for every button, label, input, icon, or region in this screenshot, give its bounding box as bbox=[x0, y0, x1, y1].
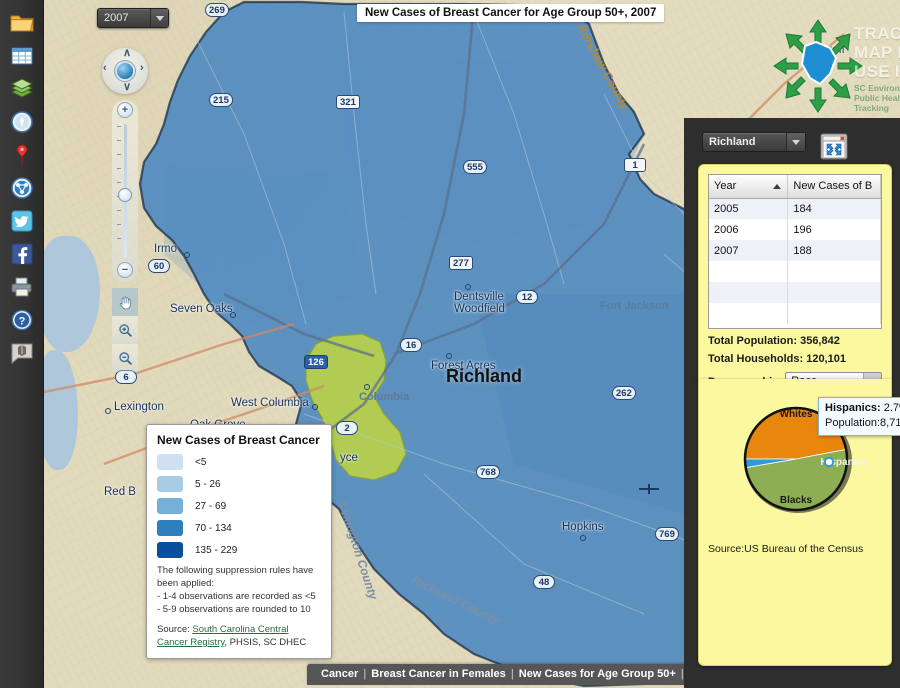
twitter-icon[interactable] bbox=[0, 204, 44, 237]
tooltip-percent: 2.7% bbox=[884, 402, 900, 414]
legend-source: Source: South Carolina Central Cancer Re… bbox=[157, 623, 321, 649]
expand-arrows-icon bbox=[820, 133, 848, 160]
logo-tagline: TRACK IT. MAP IT. USE IT. bbox=[854, 24, 900, 81]
logo-subtitle: SC Environmental Public Health Tracking bbox=[854, 83, 900, 113]
legend-title: New Cases of Breast Cancer bbox=[157, 433, 321, 447]
table-cell-year: 2007 bbox=[709, 240, 788, 261]
left-toolbar: ? bbox=[0, 0, 44, 688]
table-row[interactable]: 2006196 bbox=[709, 219, 881, 240]
legend-item: 27 - 69 bbox=[157, 498, 321, 514]
table-cell-empty bbox=[709, 282, 788, 303]
map-city-dot bbox=[364, 384, 370, 390]
highway-shield-16: 16 bbox=[400, 338, 422, 352]
breadcrumb-separator-1: | bbox=[361, 668, 368, 680]
share-icon[interactable] bbox=[0, 171, 44, 204]
legend-swatch bbox=[157, 520, 183, 536]
pan-hand-tool[interactable] bbox=[112, 288, 138, 316]
legend-suppression-note: The following suppression rules have bee… bbox=[157, 564, 321, 616]
legend-swatch bbox=[157, 454, 183, 470]
highway-shield-1: 1 bbox=[624, 158, 646, 172]
highway-shield-262: 262 bbox=[612, 386, 636, 400]
logo-line-2: MAP IT. bbox=[854, 43, 900, 62]
pie-hover-marker bbox=[825, 458, 833, 466]
table-cell-empty bbox=[788, 261, 881, 282]
county-dropdown[interactable]: Richland bbox=[702, 132, 806, 152]
highway-shield-769: 769 bbox=[655, 527, 679, 541]
map-city-dot bbox=[580, 535, 586, 541]
breadcrumb-separator-2: | bbox=[509, 668, 516, 680]
map-city-dot bbox=[312, 404, 318, 410]
zoom-in-tool[interactable] bbox=[112, 316, 138, 344]
table-cell-new-cases: 184 bbox=[788, 198, 881, 219]
legend-label: 135 - 229 bbox=[195, 545, 237, 556]
facebook-icon[interactable] bbox=[0, 237, 44, 270]
county-dropdown-value: Richland bbox=[703, 133, 786, 151]
map-city-dot bbox=[230, 312, 236, 318]
sort-ascending-icon bbox=[773, 184, 781, 189]
map-title: New Cases of Breast Cancer for Age Group… bbox=[357, 4, 664, 22]
highway-shield-269: 269 bbox=[205, 3, 229, 17]
demographic-chart-card: Whites Blacks Hispanics Hispanics: 2.7% … bbox=[698, 379, 892, 666]
table-header-year[interactable]: Year bbox=[709, 175, 788, 198]
tooltip-population-value: 8,713 bbox=[880, 417, 900, 429]
pan-left-icon[interactable]: ‹ bbox=[103, 62, 107, 74]
svg-text:?: ? bbox=[19, 315, 26, 327]
highway-shield-277: 277 bbox=[449, 256, 473, 270]
breadcrumb: Cancer | Breast Cancer in Females | New … bbox=[307, 664, 727, 685]
pan-control[interactable]: ∧ ∨ ‹ › bbox=[102, 48, 148, 94]
data-table[interactable]: Year New Cases of B 20051842006196200718… bbox=[708, 174, 882, 329]
highway-shield-60: 60 bbox=[148, 259, 170, 273]
total-households-value: 120,101 bbox=[806, 353, 846, 365]
pie-label-whites: Whites bbox=[780, 409, 813, 420]
table-body: 200518420061962007188 bbox=[709, 198, 881, 324]
pan-down-icon[interactable]: ∨ bbox=[123, 80, 131, 93]
pie-tooltip: Hispanics: 2.7% Population:8,713 bbox=[818, 397, 900, 436]
breadcrumb-item-1[interactable]: Cancer bbox=[321, 668, 358, 680]
info-panel-header: Richland bbox=[684, 118, 900, 166]
tooltip-name-label: Hispanics: bbox=[825, 402, 881, 414]
demographic-row: Demographic Race bbox=[708, 372, 882, 379]
zoom-out-tool[interactable] bbox=[112, 344, 138, 372]
table-header-year-label: Year bbox=[714, 180, 736, 192]
expand-panel-button[interactable] bbox=[820, 133, 848, 160]
legend-item: 5 - 26 bbox=[157, 476, 321, 492]
pan-up-icon[interactable]: ∧ bbox=[123, 46, 131, 59]
map-navigation-control: ∧ ∨ ‹ › + − bbox=[102, 48, 148, 94]
table-cell-new-cases: 188 bbox=[788, 240, 881, 261]
legend-source-suffix: , PHSIS, SC DHEC bbox=[224, 637, 306, 648]
folder-icon[interactable] bbox=[0, 6, 44, 39]
highway-shield-2: 2 bbox=[336, 421, 358, 435]
application-window: ? bbox=[0, 0, 900, 688]
table-cell-new-cases: 196 bbox=[788, 219, 881, 240]
legend-note-line-2: been applied: bbox=[157, 577, 321, 590]
year-dropdown[interactable]: 2007 bbox=[97, 8, 169, 28]
help-icon[interactable]: ? bbox=[0, 303, 44, 336]
table-cell-empty bbox=[709, 303, 788, 324]
legend-swatch bbox=[157, 498, 183, 514]
legend-label: 5 - 26 bbox=[195, 479, 221, 490]
race-pie-chart[interactable]: Whites Blacks Hispanics Hispanics: 2.7% … bbox=[708, 385, 882, 535]
legend-swatch bbox=[157, 476, 183, 492]
tooltip-population-line: Population:8,713 bbox=[825, 416, 900, 431]
table-cell-empty bbox=[709, 261, 788, 282]
layers-icon[interactable] bbox=[0, 72, 44, 105]
statistics-card: Year New Cases of B 20051842006196200718… bbox=[698, 164, 892, 379]
highway-shield-215: 215 bbox=[209, 93, 233, 107]
logo-subline-2: Public Health Tracking bbox=[854, 93, 900, 113]
pie-label-blacks: Blacks bbox=[780, 495, 813, 506]
zoom-slider-thumb[interactable] bbox=[118, 188, 132, 202]
map-city-dot bbox=[105, 408, 111, 414]
legend-label: <5 bbox=[195, 457, 206, 468]
chevron-down-icon bbox=[150, 9, 168, 27]
highway-shield-6: 6 bbox=[115, 370, 137, 384]
zoom-out-button[interactable]: − bbox=[117, 262, 133, 278]
legend-label: 27 - 69 bbox=[195, 501, 226, 512]
legend-note-line-4: - 5-9 observations are rounded to 10 bbox=[157, 603, 321, 616]
info-panel: Richland Year New Cases of B bbox=[684, 118, 900, 688]
pdf-icon[interactable] bbox=[0, 336, 44, 369]
legend-item: 70 - 134 bbox=[157, 520, 321, 536]
table-row[interactable]: 2005184 bbox=[709, 198, 881, 219]
globe-icon[interactable] bbox=[115, 61, 135, 81]
total-households-row: Total Households: 120,101 bbox=[708, 353, 882, 365]
table-cell-empty bbox=[788, 303, 881, 324]
pie-chart-source: Source:US Bureau of the Census bbox=[708, 543, 882, 555]
map-tool-stack bbox=[112, 288, 138, 372]
pan-right-icon[interactable]: › bbox=[140, 62, 144, 74]
highway-shield-555: 555 bbox=[463, 160, 487, 174]
table-header-new-cases[interactable]: New Cases of B bbox=[788, 175, 881, 198]
logo-line-3: USE IT. bbox=[854, 62, 900, 81]
total-population-row: Total Population: 356,842 bbox=[708, 335, 882, 347]
legend-swatch bbox=[157, 542, 183, 558]
map-city-dot bbox=[446, 353, 452, 359]
brand-logo: TRACK IT. MAP IT. USE IT. SC Environment… bbox=[772, 18, 900, 113]
table-cell-year: 2005 bbox=[709, 198, 788, 219]
breadcrumb-item-2[interactable]: Breast Cancer in Females bbox=[371, 668, 506, 680]
map-city-dot bbox=[465, 284, 471, 290]
printer-icon[interactable] bbox=[0, 270, 44, 303]
total-households-label: Total Households: bbox=[708, 353, 803, 365]
legend-item-list: <55 - 2627 - 6970 - 134135 - 229 bbox=[157, 454, 321, 558]
table-row-empty bbox=[709, 261, 881, 282]
legend-note-line-1: The following suppression rules have bbox=[157, 564, 321, 577]
legend-item: <5 bbox=[157, 454, 321, 470]
legend-item: 135 - 229 bbox=[157, 542, 321, 558]
map-city-dot bbox=[184, 252, 190, 258]
legend-note-line-3: - 1-4 observations are recorded as <5 bbox=[157, 590, 321, 603]
demographic-dropdown[interactable]: Race bbox=[785, 372, 882, 379]
highway-shield-12: 12 bbox=[516, 290, 538, 304]
map-legend: New Cases of Breast Cancer <55 - 2627 - … bbox=[146, 424, 332, 659]
total-population-value: 356,842 bbox=[800, 335, 840, 347]
zoom-slider[interactable]: + − bbox=[112, 100, 138, 282]
logo-subline-1: SC Environmental bbox=[854, 83, 900, 93]
table-header-row: Year New Cases of B bbox=[709, 175, 881, 198]
total-population-label: Total Population: bbox=[708, 335, 797, 347]
chevron-down-icon bbox=[786, 133, 805, 151]
compass-icon[interactable] bbox=[0, 105, 44, 138]
logo-line-1: TRACK IT. bbox=[854, 24, 900, 43]
tooltip-population-label: Population: bbox=[825, 417, 880, 429]
pin-icon[interactable] bbox=[0, 138, 44, 171]
table-row-empty bbox=[709, 303, 881, 324]
highway-shield-48: 48 bbox=[533, 575, 555, 589]
table-row-empty bbox=[709, 282, 881, 303]
breadcrumb-item-3[interactable]: New Cases for Age Group 50+ bbox=[519, 668, 676, 680]
tooltip-name-line: Hispanics: 2.7% bbox=[825, 401, 900, 416]
zoom-in-button[interactable]: + bbox=[117, 102, 133, 118]
table-row[interactable]: 2007188 bbox=[709, 240, 881, 261]
table-header-new-cases-label: New Cases of B bbox=[793, 180, 872, 192]
table-cell-empty bbox=[788, 282, 881, 303]
year-dropdown-value: 2007 bbox=[98, 9, 150, 27]
table-icon[interactable] bbox=[0, 39, 44, 72]
legend-source-prefix: Source: bbox=[157, 624, 192, 635]
table-cell-year: 2006 bbox=[709, 219, 788, 240]
highway-shield-768: 768 bbox=[476, 465, 500, 479]
legend-label: 70 - 134 bbox=[195, 523, 232, 534]
highway-shield-321: 321 bbox=[336, 95, 360, 109]
highway-shield-126: 126 bbox=[304, 355, 328, 369]
